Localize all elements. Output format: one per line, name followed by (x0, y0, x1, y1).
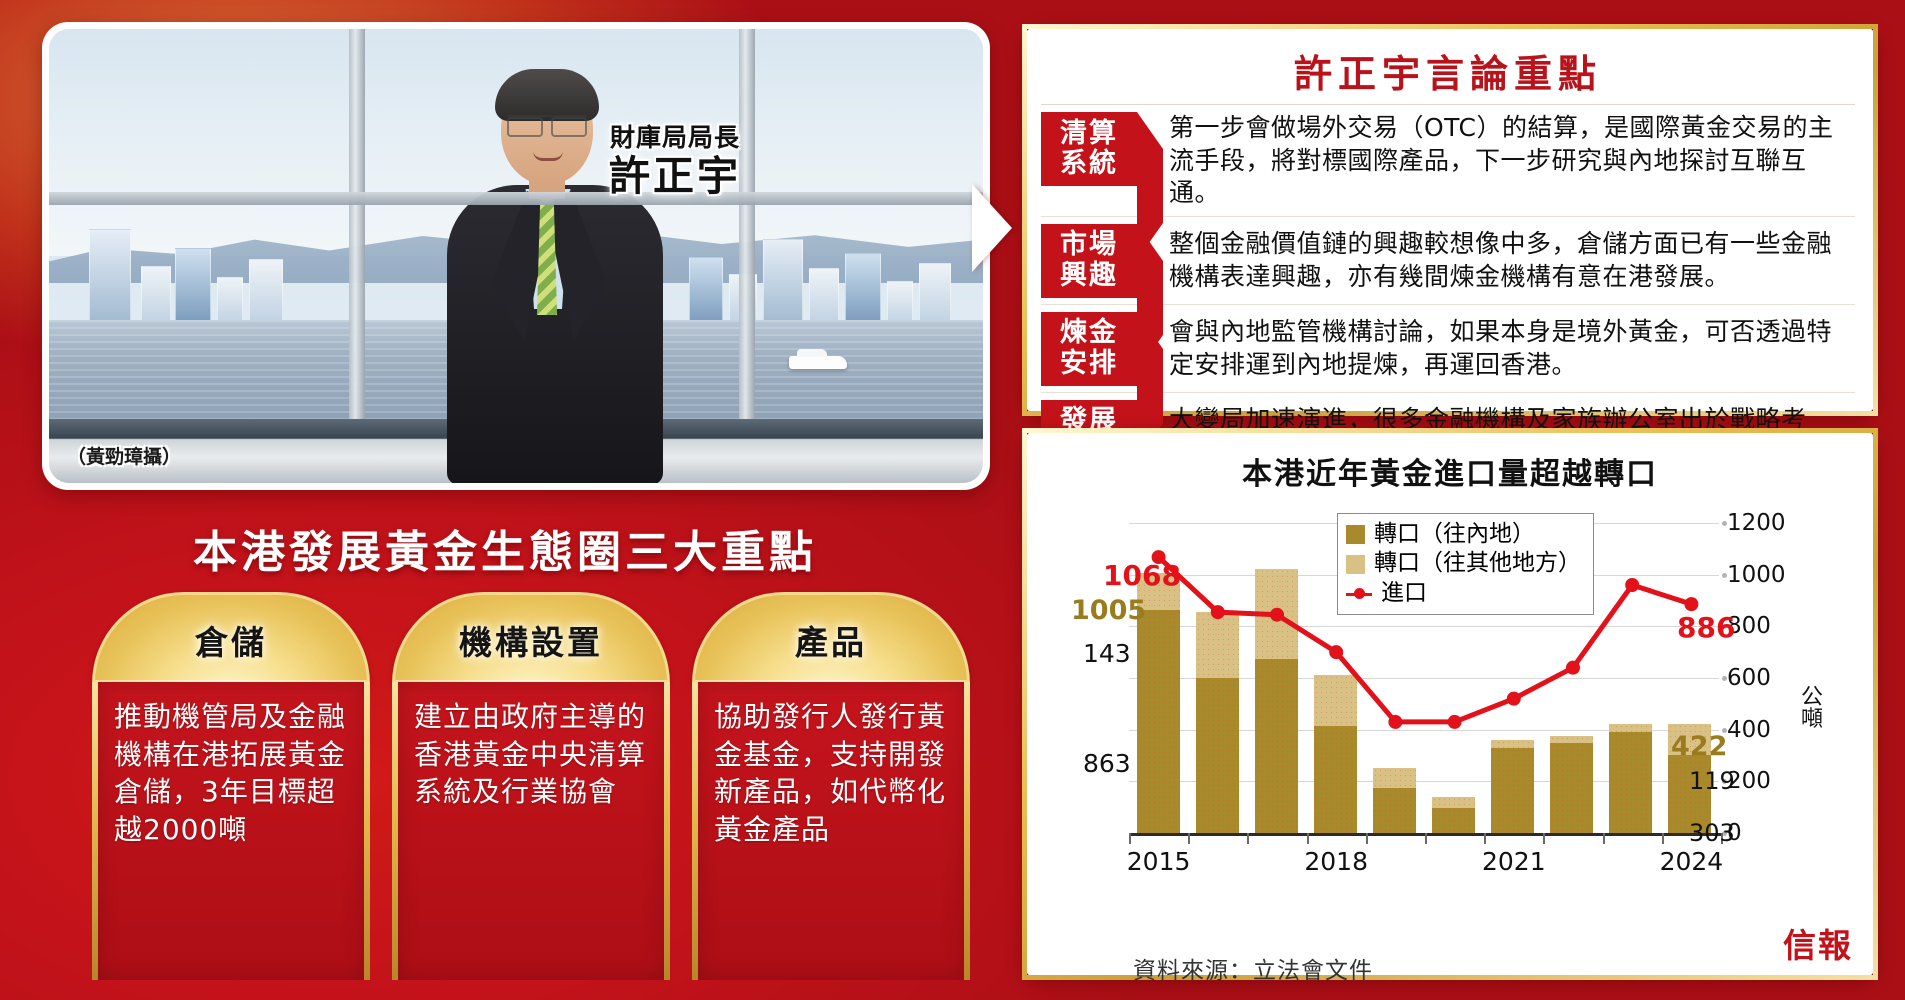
quote-tag-line2: 系統 (1060, 149, 1118, 179)
x-tick (1366, 833, 1368, 844)
card-title-banner: 產品 (692, 592, 970, 684)
y-axis-tick-label: 600 (1727, 665, 1771, 691)
quote-tag-wrap: 煉金 安排 (1041, 312, 1153, 386)
chart-title: 本港近年黃金進口量超越轉口 (1041, 443, 1859, 495)
x-axis-tick-label: 2021 (1482, 847, 1546, 876)
x-tick (1543, 833, 1545, 844)
photo-credit: （黃勁璋攝） (67, 442, 181, 469)
legend-line-marker-icon (1346, 584, 1372, 603)
legend-item-reexport-mainland: 轉口（往內地） (1346, 520, 1581, 549)
y-axis-unit: 公噸 (1801, 687, 1825, 732)
card-title: 倉儲 (195, 616, 267, 664)
x-axis-tick-label: 2024 (1660, 847, 1724, 876)
photo-role: 財庫局局長 (609, 124, 741, 152)
annotation-143: 143 (1083, 639, 1131, 668)
import-line-point (1448, 715, 1462, 729)
y-axis-tick-label: 400 (1727, 717, 1771, 743)
annotation-303: 303 (1689, 819, 1735, 847)
import-line-point (1211, 605, 1225, 619)
window-mullion (739, 29, 755, 419)
legend-label: 進口 (1381, 579, 1427, 608)
annotation-886: 886 (1677, 611, 1735, 644)
import-line-point (1270, 608, 1284, 622)
card-products: 產品 協助發行人發行黃金基金，支持開發新產品，如代幣化黃金產品 (692, 592, 970, 982)
chart-legend: 轉口（往內地） 轉口（往其他地方） 進口 (1337, 513, 1594, 615)
import-line-point (1507, 692, 1521, 706)
quote-tag-line1: 市場 (1060, 230, 1118, 260)
chart-panel: 本港近年黃金進口量超越轉口 2015201820212024 020040060… (1022, 428, 1878, 980)
building (89, 229, 131, 334)
quote-tag-line1: 清算 (1060, 119, 1118, 149)
legend-item-reexport-other: 轉口（往其他地方） (1346, 549, 1581, 578)
x-tick (1603, 833, 1605, 844)
quote-tag-wrap: 清算 系統 (1041, 112, 1153, 210)
chart-source: 資料來源：立法會文件 (1133, 951, 1373, 985)
x-tick (1662, 833, 1664, 844)
y-axis-tick-label: 1000 (1727, 562, 1786, 588)
quote-text: 第一步會做場外交易（OTC）的結算，是國際黃金交易的主流手段，將對標國際產品，下… (1153, 112, 1855, 210)
quote-tag-line1: 煉金 (1060, 318, 1118, 348)
card-institutions: 機構設置 建立由政府主導的香港黃金中央清算系統及行業協會 (392, 592, 670, 982)
quote-rows: 清算 系統 第一步會做場外交易（OTC）的結算，是國際黃金交易的主流手段，將對標… (1041, 104, 1855, 480)
x-axis-tick-label: 2015 (1127, 847, 1191, 876)
legend-label: 轉口（往其他地方） (1374, 549, 1581, 578)
import-line-point (1566, 661, 1580, 675)
legend-label: 轉口（往內地） (1374, 520, 1535, 549)
quote-row: 市場 興趣 整個金融價值鏈的興趣較想像中多，倉儲方面已有一些金融機構表達興趣，亦… (1041, 216, 1855, 304)
quotes-panel: 許正宇言論重點 清算 系統 第一步會做場外交易（OTC）的結算，是國際黃金交易的… (1022, 24, 1878, 416)
quote-text: 會與內地監管機構討論，如果本身是境外黃金，可否透過特定安排運到內地提煉，再運回香… (1153, 312, 1855, 386)
photo-name: 許正宇 (609, 154, 741, 200)
x-tick (1425, 833, 1427, 844)
annotation-1005: 1005 (1071, 595, 1146, 626)
x-axis-tick-label: 2018 (1304, 847, 1368, 876)
card-title-banner: 機構設置 (392, 592, 670, 684)
hair (495, 69, 599, 121)
card-text: 協助發行人發行黃金基金，支持開發新產品，如代幣化黃金產品 (714, 698, 950, 848)
import-line-point (1684, 597, 1698, 611)
legend-item-import: 進口 (1346, 579, 1581, 608)
window-mullion (349, 29, 365, 419)
card-title: 產品 (795, 616, 867, 664)
card-body: 推動機管局及金融機構在港拓展黃金倉儲，3年目標超越2000噸 (92, 682, 370, 980)
import-line-point (1329, 645, 1343, 659)
chart-plot: 2015201820212024 020040060080010001200 公… (1041, 499, 1867, 901)
x-axis-labels: 2015201820212024 (1129, 847, 1721, 881)
card-title-banner: 倉儲 (92, 592, 370, 684)
card-warehousing: 倉儲 推動機管局及金融機構在港拓展黃金倉儲，3年目標超越2000噸 (92, 592, 370, 982)
photo-caption-label: 財庫局局長 許正宇 (609, 124, 741, 200)
x-tick (1484, 833, 1486, 844)
import-line-point (1625, 578, 1639, 592)
window-mullion-horizontal (49, 192, 983, 205)
legend-swatch-icon (1346, 555, 1365, 574)
card-text: 推動機管局及金融機構在港拓展黃金倉儲，3年目標超越2000噸 (114, 698, 350, 848)
legend-swatch-icon (1346, 525, 1365, 544)
y-axis-tick-label: 1200 (1727, 510, 1786, 536)
quote-tag-line2: 安排 (1060, 349, 1118, 379)
card-body: 建立由政府主導的香港黃金中央清算系統及行業協會 (392, 682, 670, 980)
card-text: 建立由政府主導的香港黃金中央清算系統及行業協會 (414, 698, 650, 811)
quote-text: 整個金融價值鏈的興趣較想像中多，倉儲方面已有一些金融機構表達興趣，亦有幾間煉金機… (1153, 224, 1855, 298)
quote-tag-wrap: 市場 興趣 (1041, 224, 1153, 298)
import-line-point (1388, 715, 1402, 729)
annotation-1068: 1068 (1103, 559, 1181, 592)
x-tick (1129, 833, 1131, 844)
card-title: 機構設置 (459, 616, 603, 664)
x-axis-ticks (1129, 833, 1721, 845)
quote-tag: 煉金 安排 (1041, 312, 1137, 386)
glasses-icon (507, 115, 587, 132)
x-tick (1247, 833, 1249, 844)
quote-tag: 市場 興趣 (1041, 224, 1137, 298)
page-title: 本港發展黃金生態圈三大重點 (0, 516, 1010, 580)
quote-row: 清算 系統 第一步會做場外交易（OTC）的結算，是國際黃金交易的主流手段，將對標… (1041, 104, 1855, 216)
infographic-root: 財庫局局長 許正宇 （黃勁璋攝） 本港發展黃金生態圈三大重點 倉儲 推動機管局及… (0, 0, 1905, 1000)
card-body: 協助發行人發行黃金基金，支持開發新產品，如代幣化黃金產品 (692, 682, 970, 980)
photo-image: 財庫局局長 許正宇 （黃勁璋攝） (49, 29, 983, 483)
annotation-119: 119 (1689, 767, 1735, 795)
quotes-panel-title: 許正宇言論重點 (1041, 39, 1855, 104)
boat (789, 356, 847, 369)
quote-row: 煉金 安排 會與內地監管機構討論，如果本身是境外黃金，可否透過特定安排運到內地提… (1041, 304, 1855, 392)
speech-pointer-icon (972, 184, 1012, 272)
x-tick (1307, 833, 1309, 844)
x-tick (1188, 833, 1190, 844)
annotation-863: 863 (1083, 749, 1131, 778)
quote-tag-line2: 興趣 (1060, 261, 1118, 291)
quote-tag: 清算 系統 (1041, 112, 1137, 186)
brand-logo: 信報 (1783, 919, 1853, 967)
annotation-422: 422 (1671, 731, 1727, 762)
photo-card: 財庫局局長 許正宇 （黃勁璋攝） (42, 22, 990, 490)
key-points-cards: 倉儲 推動機管局及金融機構在港拓展黃金倉儲，3年目標超越2000噸 機構設置 建… (92, 592, 972, 982)
